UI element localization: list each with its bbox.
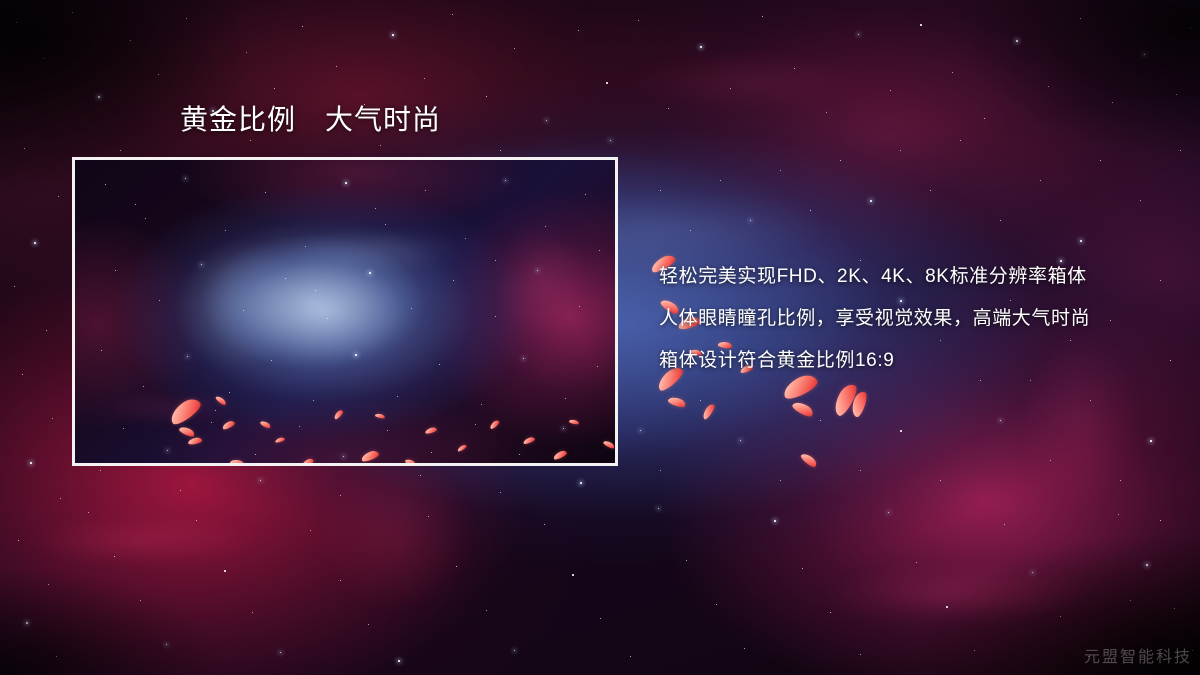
flower-petal	[523, 436, 536, 445]
framed-nebula-image	[72, 157, 618, 466]
star-dot	[1100, 160, 1101, 161]
star-dot	[1016, 40, 1018, 42]
flower-petal	[333, 409, 344, 420]
star-dot	[660, 470, 661, 471]
star-dot	[780, 480, 781, 481]
slide-title: 黄金比例 大气时尚	[180, 102, 441, 137]
star-dot	[668, 108, 669, 109]
star-dot	[810, 210, 811, 211]
body-line-1: 轻松完美实现FHD、2K、4K、8K标准分辨率箱体	[659, 256, 1179, 298]
star-dot	[578, 30, 579, 31]
star-dot	[252, 612, 253, 613]
star-dot	[186, 18, 187, 19]
star-dot	[762, 16, 763, 17]
star-dot	[1176, 94, 1177, 95]
star-dot	[224, 570, 226, 572]
star-dot	[716, 604, 717, 605]
star-dot	[1192, 650, 1193, 651]
star-dot	[900, 430, 902, 432]
star-dot	[250, 140, 251, 141]
star-dot	[572, 574, 574, 576]
star-dot	[392, 34, 394, 36]
star-dot	[456, 566, 457, 567]
star-dot	[974, 650, 975, 651]
flower-petal	[375, 413, 386, 419]
star-dot	[56, 656, 57, 657]
star-dot	[1140, 200, 1141, 201]
star-dot	[1118, 514, 1119, 515]
star-dot	[890, 90, 891, 91]
star-dot	[420, 475, 421, 476]
star-dot	[336, 66, 337, 67]
star-dot	[180, 490, 181, 491]
flower-petal	[552, 449, 567, 460]
star-dot	[46, 330, 47, 331]
star-dot	[52, 418, 53, 419]
star-dot	[48, 584, 49, 585]
star-dot	[1000, 220, 1001, 221]
flower-petal	[603, 439, 616, 449]
star-dot	[860, 654, 861, 655]
flower-petal	[178, 425, 195, 438]
flower-petal	[800, 451, 819, 469]
star-dot	[428, 516, 429, 517]
star-dot	[638, 20, 639, 21]
flower-petal	[667, 395, 687, 409]
star-dot	[580, 482, 582, 484]
star-dot	[730, 88, 731, 89]
star-dot	[774, 520, 776, 522]
flower-petal	[215, 395, 227, 407]
star-dot	[916, 562, 917, 563]
star-dot	[100, 470, 101, 471]
body-line-3: 箱体设计符合黄金比例16:9	[659, 340, 1179, 382]
star-dot	[920, 24, 922, 26]
flower-petal	[259, 420, 271, 430]
star-dot	[606, 82, 608, 84]
star-dot	[546, 120, 547, 121]
star-dot	[14, 286, 15, 287]
star-dot	[700, 46, 702, 48]
star-dot	[514, 48, 515, 49]
star-dot	[486, 610, 487, 611]
presentation-slide: 黄金比例 大气时尚 轻松完美实现FHD、2K、4K、8K标准分辨率箱体 人体眼睛…	[0, 0, 1200, 675]
star-dot	[984, 118, 985, 119]
star-dot	[900, 150, 901, 151]
star-dot	[1048, 86, 1049, 87]
star-dot	[340, 495, 341, 496]
star-dot	[858, 34, 859, 35]
star-dot	[1112, 102, 1113, 103]
star-dot	[960, 140, 961, 141]
star-dot	[58, 196, 59, 197]
star-dot	[380, 145, 381, 146]
flower-petal	[489, 419, 501, 430]
flower-petal	[791, 399, 815, 419]
star-dot	[690, 230, 691, 231]
star-dot	[158, 74, 159, 75]
star-dot	[44, 58, 45, 59]
star-dot	[1146, 564, 1148, 566]
flower-petal	[229, 458, 245, 466]
star-dot	[1144, 54, 1145, 55]
star-dot	[340, 580, 341, 581]
star-dot	[794, 68, 795, 69]
star-dot	[830, 612, 831, 613]
flower-petal	[221, 420, 235, 431]
flower-petal	[425, 427, 438, 435]
star-dot	[1080, 240, 1082, 242]
star-dot	[1130, 600, 1131, 601]
star-dot	[744, 648, 745, 649]
star-dot	[1090, 400, 1091, 401]
flower-petal	[569, 419, 580, 425]
star-dot	[630, 656, 631, 657]
flower-petal	[275, 437, 286, 443]
body-line-2: 人体眼睛瞳孔比例，享受视觉效果，高端大气时尚	[659, 298, 1179, 340]
flower-petal	[188, 437, 203, 445]
star-dot	[1160, 520, 1161, 521]
watermark-text: 元盟智能科技	[1084, 643, 1192, 667]
star-dot	[930, 190, 931, 191]
star-dot	[1050, 460, 1051, 461]
star-dot	[1080, 18, 1081, 19]
star-dot	[60, 498, 61, 499]
star-dot	[870, 200, 872, 202]
star-dot	[26, 622, 28, 624]
star-dot	[820, 420, 821, 421]
star-dot	[750, 220, 751, 221]
star-dot	[24, 148, 25, 149]
star-dot	[16, 22, 17, 23]
star-dot	[780, 170, 781, 171]
star-dot	[274, 88, 275, 89]
star-dot	[130, 40, 131, 41]
star-dot	[500, 150, 501, 151]
flower-petal	[404, 458, 416, 466]
star-dot	[1032, 572, 1033, 573]
star-dot	[196, 520, 197, 521]
star-dot	[700, 400, 701, 401]
flower-petal	[504, 463, 520, 466]
star-dot	[398, 660, 400, 662]
star-dot	[22, 374, 23, 375]
star-dot	[34, 242, 36, 244]
star-dot	[610, 140, 611, 141]
flower-petal	[849, 390, 869, 419]
star-dot	[1120, 480, 1121, 481]
star-dot	[18, 540, 19, 541]
flower-petal	[166, 395, 203, 428]
star-dot	[114, 556, 115, 557]
star-dot	[1190, 28, 1191, 29]
star-dot	[310, 530, 311, 531]
star-dot	[1000, 420, 1001, 421]
star-dot	[686, 560, 687, 561]
star-dot	[246, 52, 247, 53]
star-dot	[888, 512, 889, 513]
star-dot	[940, 480, 941, 481]
star-dot	[826, 112, 827, 113]
flower-petal	[360, 449, 380, 463]
star-dot	[1150, 440, 1152, 442]
star-dot	[424, 78, 425, 79]
star-dot	[740, 440, 741, 441]
star-dot	[260, 480, 261, 481]
star-dot	[166, 644, 167, 645]
star-dot	[544, 524, 545, 525]
star-dot	[302, 26, 303, 27]
star-dot	[600, 618, 601, 619]
star-dot	[452, 14, 453, 15]
star-dot	[98, 96, 100, 98]
flower-petal	[830, 381, 860, 418]
star-dot	[486, 96, 487, 97]
star-dot	[514, 650, 515, 651]
star-dot	[1060, 616, 1061, 617]
star-dot	[1180, 150, 1181, 151]
star-dot	[1004, 524, 1005, 525]
star-dot	[30, 462, 32, 464]
star-dot	[658, 508, 659, 509]
star-dot	[660, 190, 661, 191]
star-dot	[860, 470, 861, 471]
star-dot	[120, 150, 121, 151]
flower-petal	[701, 403, 716, 421]
star-dot	[88, 512, 89, 513]
star-dot	[946, 606, 948, 608]
star-dot	[952, 72, 953, 73]
star-dot	[140, 600, 141, 601]
flower-petal	[300, 457, 314, 466]
star-dot	[640, 430, 641, 431]
star-dot	[280, 652, 281, 653]
star-dot	[1174, 608, 1175, 609]
star-dot	[368, 624, 369, 625]
star-dot	[500, 492, 501, 493]
slide-body-copy: 轻松完美实现FHD、2K、4K、8K标准分辨率箱体 人体眼睛瞳孔比例，享受视觉效…	[659, 256, 1179, 382]
framed-image-petals	[75, 160, 615, 463]
star-dot	[1040, 180, 1041, 181]
star-dot	[72, 12, 73, 13]
star-dot	[840, 160, 841, 161]
star-dot	[802, 568, 803, 569]
flower-petal	[457, 444, 468, 452]
star-dot	[720, 180, 721, 181]
